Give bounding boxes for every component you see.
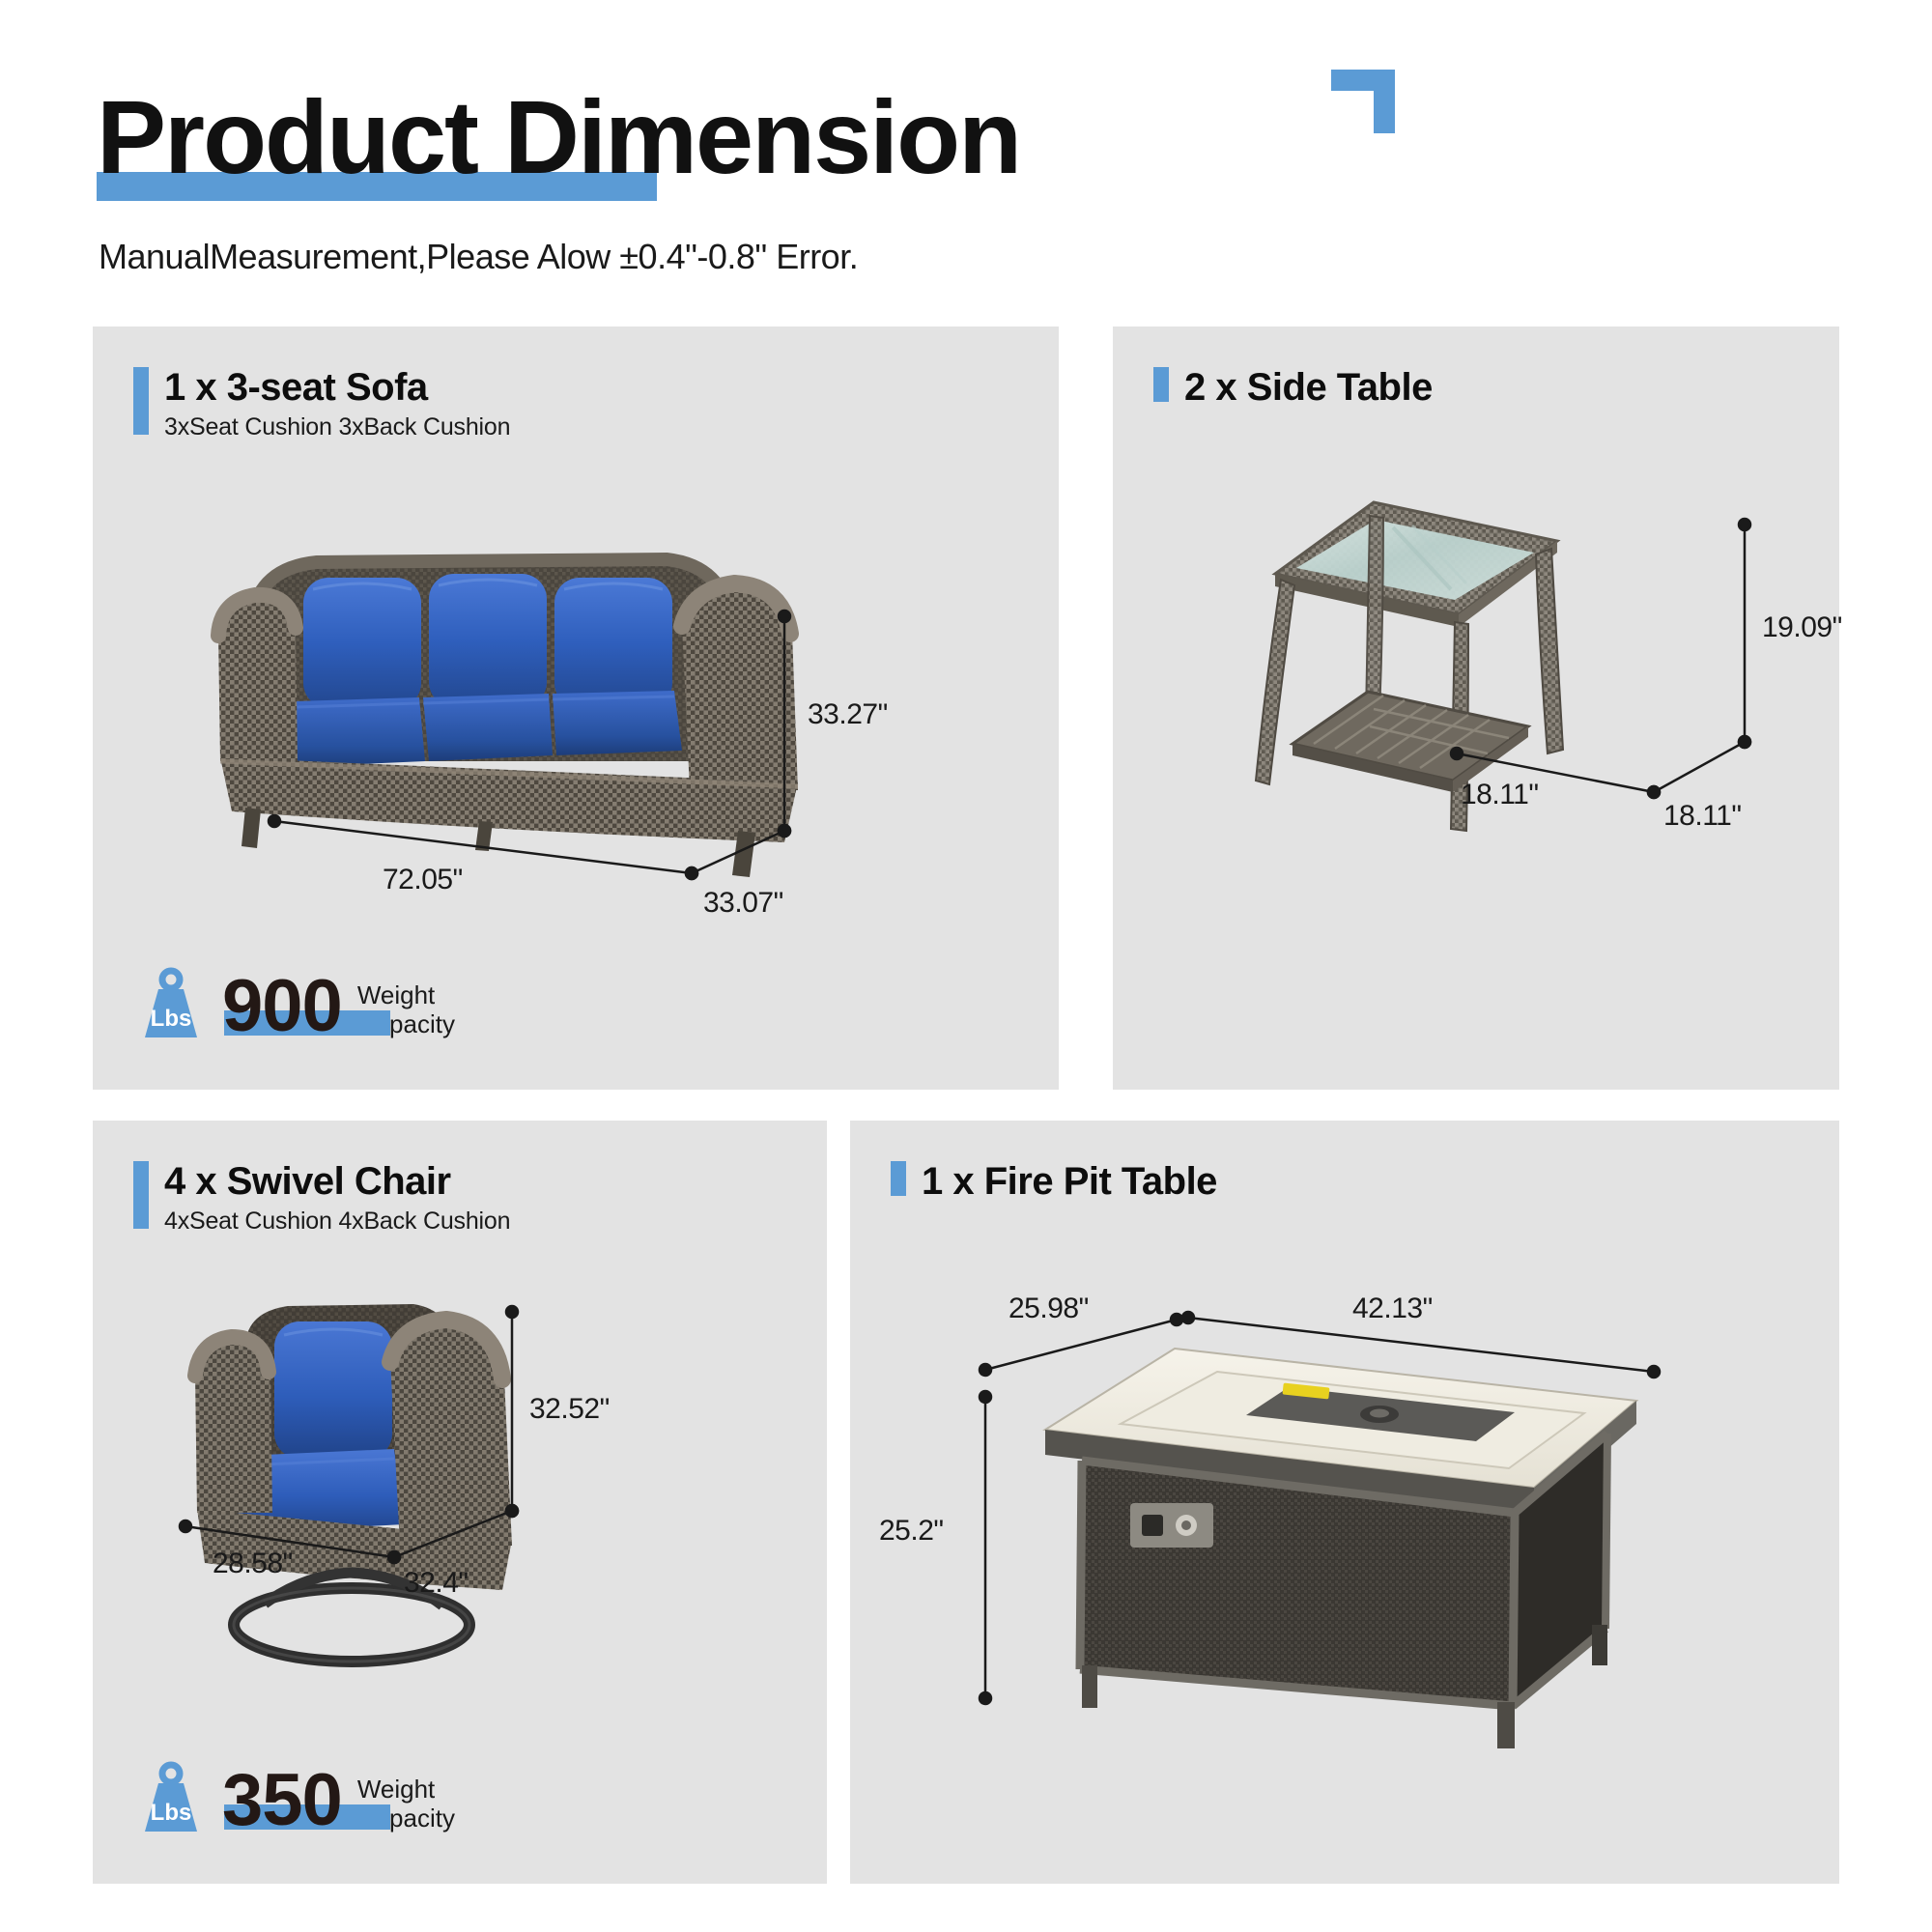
fire-pit-table-dimension-lines [850,1121,1839,1884]
page-title-wrap: Product Dimension [97,85,1020,189]
corner-bracket-icon [1331,70,1395,133]
side-table-width-label: 18.11" [1461,779,1539,811]
swivel-chair-depth-label: 32.4" [404,1567,469,1600]
swivel-chair-weight-capacity-badge: Lbs 350 Weight Capacity [133,1762,455,1837]
svg-text:Lbs: Lbs [151,1800,192,1826]
panel-side-table: 2 x Side Table [1113,327,1839,1090]
fire-pit-width-label: 42.13" [1352,1293,1433,1325]
weight-value-wrap: 350 [222,1764,342,1837]
header: Product Dimension ManualMeasurement,Plea… [0,0,1932,309]
weight-caption-line1: Weight [357,981,455,1010]
side-table-depth-label: 18.11" [1663,800,1742,833]
page-title: Product Dimension [97,85,1020,189]
sofa-width-label: 72.05" [383,864,463,896]
weight-value-wrap: 900 [222,970,342,1043]
weight-lbs-icon: Lbs [133,968,209,1043]
side-table-height-label: 19.09" [1762,611,1842,644]
page-title-regular: Dimension [477,78,1020,195]
swivel-chair-weight-value: 350 [222,1764,342,1837]
panel-fire-pit-table: 1 x Fire Pit Table [850,1121,1839,1884]
weight-lbs-icon: Lbs [133,1762,209,1837]
weight-caption-line1: Weight [357,1776,455,1804]
measurement-disclaimer: ManualMeasurement,Please Alow ±0.4"-0.8"… [99,237,858,277]
fire-pit-height-label: 25.2" [879,1515,944,1548]
sofa-height-label: 33.27" [808,698,888,731]
product-dimension-infographic: Product Dimension ManualMeasurement,Plea… [0,0,1932,1932]
page-title-bold: Product [97,78,477,195]
panel-swivel-chair: 4 x Swivel Chair 4xSeat Cushion 4xBack C… [93,1121,827,1884]
fire-pit-depth-label: 25.98" [1009,1293,1089,1325]
sofa-weight-value: 900 [222,970,342,1043]
swivel-chair-width-label: 28.58" [213,1548,293,1580]
svg-text:Lbs: Lbs [151,1006,192,1032]
side-table-dimension-lines [1113,327,1839,1090]
sofa-depth-label: 33.07" [703,887,783,920]
panel-sofa: 1 x 3-seat Sofa 3xSeat Cushion 3xBack Cu… [93,327,1059,1090]
sofa-weight-capacity-badge: Lbs 900 Weight Capacity [133,968,455,1043]
swivel-chair-height-label: 32.52" [529,1393,610,1426]
